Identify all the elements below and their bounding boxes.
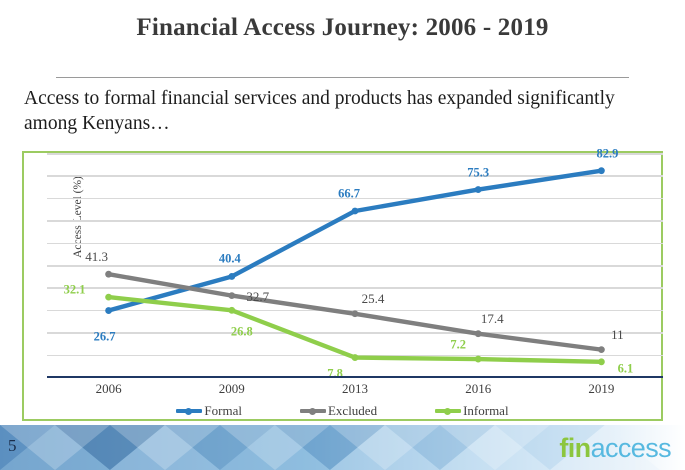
data-point-marker (228, 292, 235, 299)
data-point-marker (228, 273, 235, 280)
legend-swatch-icon (300, 405, 326, 417)
data-label: 7.2 (450, 338, 466, 353)
legend-item-informal[interactable]: Informal (435, 403, 508, 419)
chart-plot-area: 26.740.466.775.382.941.332.725.417.41132… (47, 153, 663, 377)
slide-subtitle: Access to formal financial services and … (24, 86, 664, 136)
legend-item-formal[interactable]: Formal (176, 403, 242, 419)
x-axis-tick-2019: 2019 (540, 381, 663, 401)
data-point-marker (352, 208, 359, 215)
data-label: 82.9 (596, 146, 618, 161)
chart-container: Access Level (%) 26.740.466.775.382.941.… (22, 151, 663, 421)
data-label: 11 (611, 327, 624, 343)
data-label: 32.7 (246, 289, 269, 305)
data-label: 7.8 (327, 366, 343, 381)
data-point-marker (105, 271, 112, 278)
data-point-marker (598, 346, 605, 353)
x-axis-tick-2009: 2009 (170, 381, 293, 401)
data-label: 26.7 (94, 329, 116, 344)
data-label: 26.8 (231, 325, 253, 340)
data-point-marker (475, 356, 482, 363)
data-label: 32.1 (64, 283, 86, 298)
data-point-marker (105, 294, 112, 301)
data-label: 40.4 (219, 252, 241, 267)
data-label: 66.7 (338, 186, 360, 201)
data-point-marker (598, 358, 605, 365)
page-number: 5 (8, 436, 17, 456)
chart-x-axis-ticks: 20062009201320162019 (47, 381, 663, 401)
legend-swatch-icon (176, 405, 202, 417)
legend-label: Informal (463, 403, 508, 419)
chart-x-axis-line (47, 376, 663, 378)
data-point-marker (475, 186, 482, 193)
x-axis-tick-2006: 2006 (47, 381, 170, 401)
page-title: Financial Access Journey: 2006 - 2019 (0, 14, 685, 42)
legend-item-excluded[interactable]: Excluded (300, 403, 377, 419)
x-axis-tick-2016: 2016 (417, 381, 540, 401)
slide-footer: 5 finaccess (0, 425, 685, 470)
data-point-marker (475, 330, 482, 337)
x-axis-tick-2013: 2013 (293, 381, 416, 401)
legend-label: Excluded (328, 403, 377, 419)
data-label: 17.4 (481, 311, 504, 327)
finaccess-logo: finaccess (559, 433, 671, 464)
chart-legend: FormalExcludedInformal (24, 403, 661, 419)
title-divider (56, 77, 629, 78)
series-line-informal (109, 297, 602, 362)
logo-text-access: access (591, 433, 671, 463)
legend-swatch-icon (435, 405, 461, 417)
data-label: 25.4 (362, 291, 385, 307)
data-label: 6.1 (618, 361, 634, 376)
data-point-marker (228, 307, 235, 314)
data-point-marker (352, 354, 359, 361)
logo-text-fin: fin (559, 433, 590, 463)
data-point-marker (598, 167, 605, 174)
data-point-marker (352, 310, 359, 317)
data-point-marker (105, 307, 112, 314)
data-label: 75.3 (467, 165, 489, 180)
legend-label: Formal (204, 403, 242, 419)
data-label: 41.3 (85, 249, 108, 265)
